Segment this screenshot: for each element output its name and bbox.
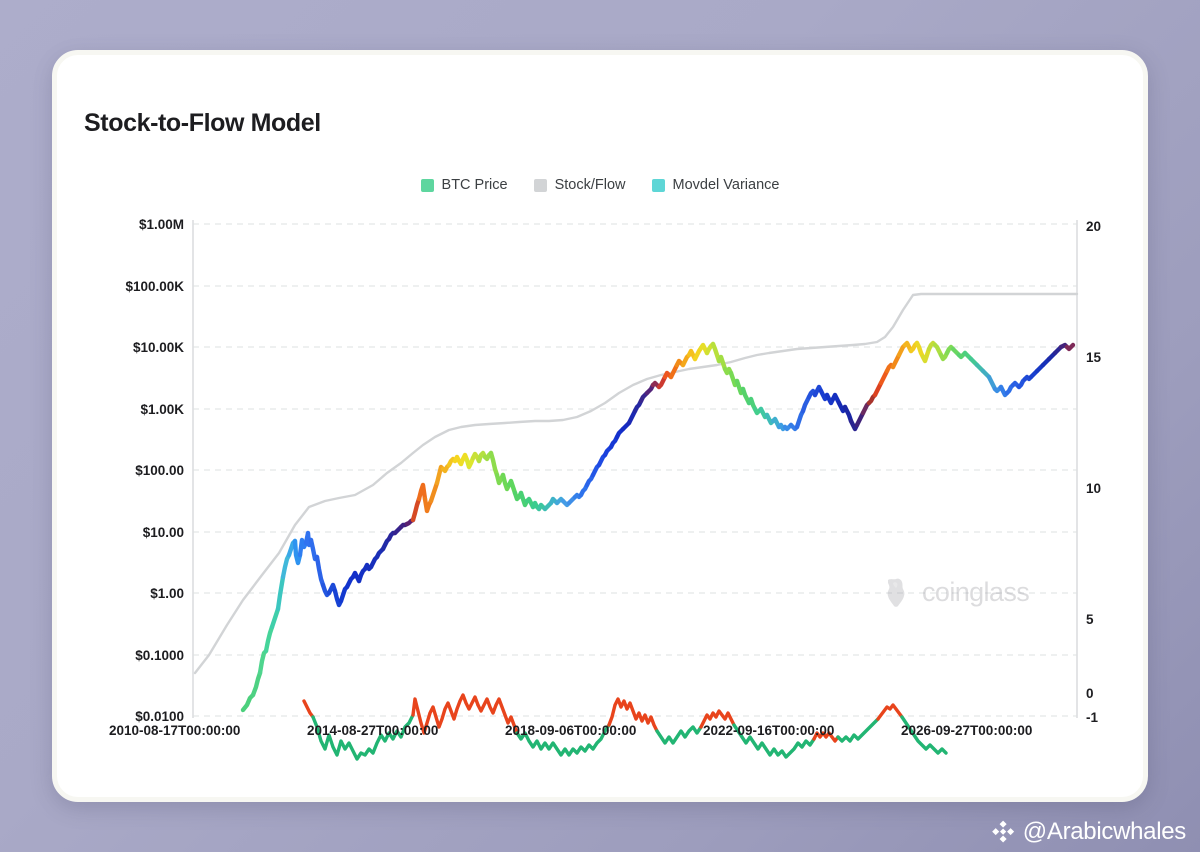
watermark-text: coinglass <box>922 577 1029 608</box>
svg-text:15: 15 <box>1086 350 1102 365</box>
whale-logo-icon <box>879 575 913 609</box>
chart-card: Stock-to-Flow Model BTC Price Stock/Flow… <box>52 50 1148 802</box>
svg-text:$10.00K: $10.00K <box>133 340 184 355</box>
binance-diamond-icon <box>990 819 1016 845</box>
svg-text:0: 0 <box>1086 686 1094 701</box>
svg-text:$1.00M: $1.00M <box>139 217 184 232</box>
series-stock-flow <box>195 294 1077 673</box>
plot-area[interactable]: $1.00M $100.00K $10.00K $1.00K $100.00 $… <box>57 55 1148 802</box>
svg-text:20: 20 <box>1086 219 1101 234</box>
svg-text:10: 10 <box>1086 481 1101 496</box>
svg-text:$1.00: $1.00 <box>150 586 184 601</box>
brand-credit: @Arabicwhales <box>990 818 1186 846</box>
svg-text:$10.00: $10.00 <box>143 525 184 540</box>
chart-svg[interactable]: $1.00M $100.00K $10.00K $1.00K $100.00 $… <box>57 55 1148 802</box>
svg-text:$1.00K: $1.00K <box>140 402 184 417</box>
svg-text:$0.0100: $0.0100 <box>135 709 184 724</box>
y-axis-right-labels: 20 15 10 5 0 -1 <box>1086 219 1102 725</box>
x-axis-tick-label: 2010-08-17T00:00:00 <box>109 723 240 738</box>
svg-text:$100.00: $100.00 <box>135 463 184 478</box>
y-axis-left-labels: $1.00M $100.00K $10.00K $1.00K $100.00 $… <box>125 217 184 724</box>
x-axis-tick-label: 2018-09-06T00:00:00 <box>505 723 636 738</box>
x-axis-tick-label: 2026-09-27T00:00:00 <box>901 723 1032 738</box>
svg-text:$100.00K: $100.00K <box>125 279 184 294</box>
x-axis-tick-label: 2022-09-16T00:00:00 <box>703 723 834 738</box>
brand-text: @Arabicwhales <box>1023 818 1186 846</box>
svg-text:$0.1000: $0.1000 <box>135 648 184 663</box>
svg-text:5: 5 <box>1086 612 1094 627</box>
x-axis-label-row: 2010-08-17T00:00:00 2014-08-27T00:00:00 … <box>57 723 1148 747</box>
gridlines <box>193 224 1077 716</box>
x-axis-tick-label: 2014-08-27T00:00:00 <box>307 723 438 738</box>
coinglass-watermark: coinglass <box>879 575 1029 609</box>
